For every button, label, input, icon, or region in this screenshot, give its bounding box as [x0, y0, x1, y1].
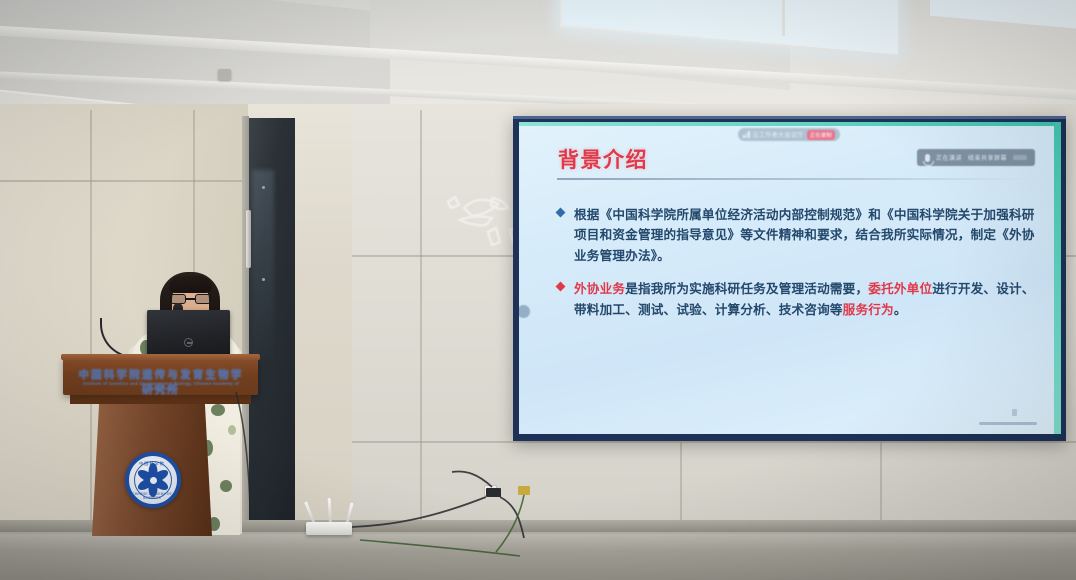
photo-vignette	[0, 0, 1076, 580]
presentation-room-photo: 云工作者大会议厅 正在录制 正在演讲 结束共享屏幕 背景介绍 根据《中国科学院所…	[0, 0, 1076, 580]
